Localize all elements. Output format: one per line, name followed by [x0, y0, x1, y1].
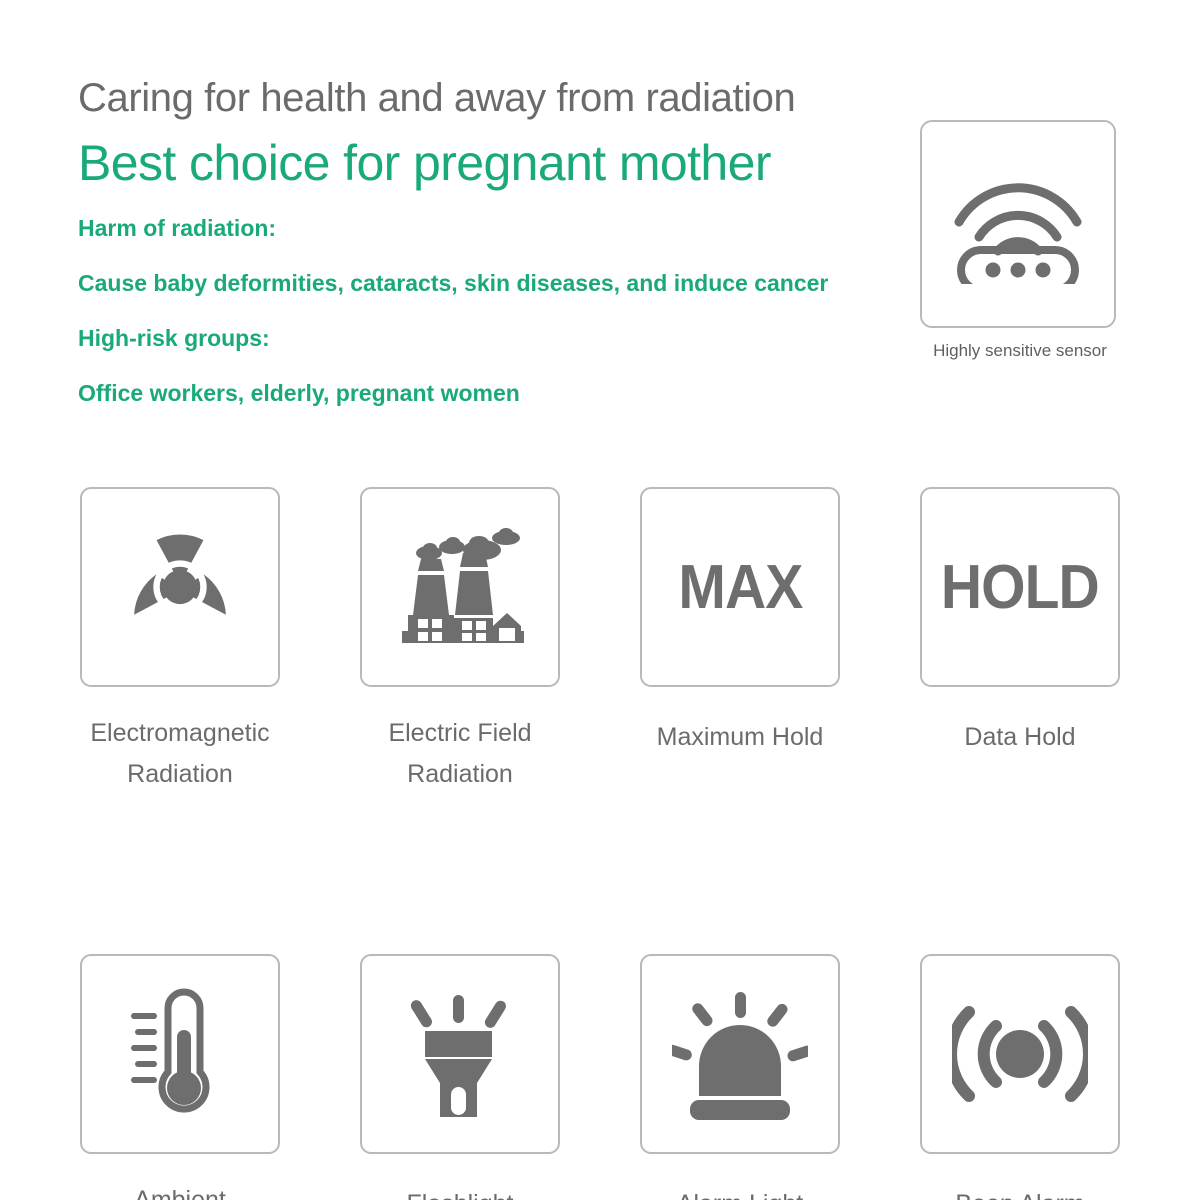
feature-flashlight: Flashlight	[360, 954, 560, 1200]
factory-icon	[394, 523, 526, 651]
feature-caption: Beep Alarm	[900, 1184, 1140, 1200]
bullet-harm-detail: Cause baby deformities, cataracts, skin …	[78, 272, 958, 295]
feature-caption: Flashlight	[340, 1184, 580, 1200]
sensor-card	[920, 120, 1116, 328]
max-text-icon: MAX	[678, 552, 802, 623]
feature-caption: ElectromagneticRadiation	[60, 713, 300, 794]
feature-tile	[920, 954, 1120, 1154]
feature-caption: Alarm Light	[620, 1184, 860, 1200]
tagline: Caring for health and away from radiatio…	[78, 76, 958, 121]
feature-beep-alarm: Beep Alarm	[920, 954, 1120, 1200]
header-block: Caring for health and away from radiatio…	[78, 76, 958, 405]
feature-maximum-hold: MAX Maximum Hold	[640, 487, 840, 794]
feature-tile	[360, 954, 560, 1154]
feature-tile: HOLD	[920, 487, 1120, 687]
feature-caption: Data Hold	[900, 717, 1140, 758]
feature-tile	[360, 487, 560, 687]
flashlight-icon	[397, 987, 523, 1121]
sensor-caption: Highly sensitive sensor	[880, 341, 1160, 361]
thermometer-icon	[120, 986, 240, 1122]
feature-tile	[80, 487, 280, 687]
feature-caption: Maximum Hold	[620, 717, 860, 758]
feature-ambient-temperature: AmbientTemperature	[80, 954, 280, 1200]
sound-wave-icon	[952, 992, 1088, 1116]
feature-tile	[80, 954, 280, 1154]
headline: Best choice for pregnant mother	[78, 135, 958, 191]
hold-text-icon: HOLD	[941, 552, 1099, 623]
feature-caption: Electric FieldRadiation	[340, 713, 580, 794]
feature-tile: MAX	[640, 487, 840, 687]
feature-alarm-light: Alarm Light	[640, 954, 840, 1200]
bullet-risk-label: High-risk groups:	[78, 327, 958, 350]
feature-tile	[640, 954, 840, 1154]
feature-grid: ElectromagneticRadiation	[80, 487, 1120, 1200]
feature-data-hold: HOLD Data Hold	[920, 487, 1120, 794]
wifi-router-icon	[943, 164, 1093, 284]
infographic-page: Caring for health and away from radiatio…	[0, 0, 1200, 1200]
siren-light-icon	[672, 988, 808, 1120]
feature-caption: AmbientTemperature	[60, 1180, 300, 1200]
bullet-harm-label: Harm of radiation:	[78, 217, 958, 240]
feature-electric-field-radiation: Electric FieldRadiation	[360, 487, 560, 794]
radiation-trefoil-icon	[116, 523, 244, 651]
bullet-list: Harm of radiation: Cause baby deformitie…	[78, 217, 958, 405]
feature-electromagnetic-radiation: ElectromagneticRadiation	[80, 487, 280, 794]
bullet-risk-detail: Office workers, elderly, pregnant women	[78, 382, 958, 405]
